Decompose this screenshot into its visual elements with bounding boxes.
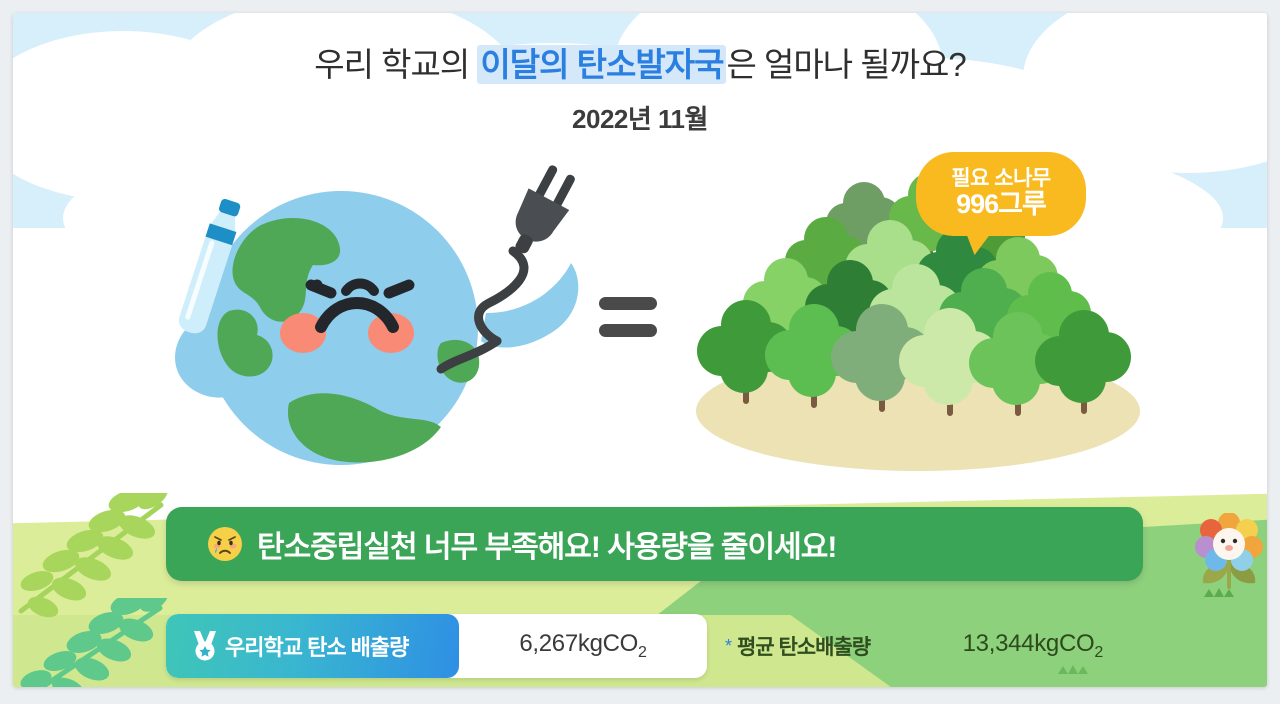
average-emission-subscript: 2 (1094, 644, 1103, 661)
school-emission-subscript: 2 (638, 644, 647, 661)
earth-right-arm (481, 263, 578, 348)
bubble-line-2: 996그루 (956, 190, 1046, 218)
school-emission-card: 우리학교 탄소 배출량 6,267kgCO2 (166, 614, 707, 678)
pine-tree-bubble: 필요 소나무 996그루 (916, 152, 1086, 236)
status-banner: 탄소중립실천 너무 부족해요! 사용량을 줄이세요! (166, 507, 1143, 581)
grass-tuft-icon (1057, 664, 1091, 675)
crying-face-emoji (207, 526, 243, 562)
school-emission-number: 6,267kgCO (519, 630, 638, 657)
medal-star-icon (191, 631, 219, 661)
flower-eye-left (1221, 539, 1225, 543)
page-title: 우리 학교의 이달의 탄소발자국은 얼마나 될까요? (13, 38, 1267, 86)
average-emission-row: * 평균 탄소배출량 13,344kgCO2 (725, 614, 1195, 678)
average-emission-number: 13,344kgCO (963, 630, 1095, 657)
school-emission-label-pill: 우리학교 탄소 배출량 (166, 614, 459, 678)
average-emission-label: 평균 탄소배출량 (737, 631, 870, 661)
fern-leaf-icon (13, 598, 188, 687)
flower-nose (1225, 545, 1233, 551)
page-subtitle: 2022년 11월 (13, 99, 1267, 136)
bubble-line-1: 필요 소나무 (951, 168, 1050, 190)
sad-earth-character (141, 163, 601, 493)
infographic-card: 우리 학교의 이달의 탄소발자국은 얼마나 될까요? 2022년 11월 (13, 13, 1267, 687)
school-emission-label: 우리학교 탄소 배출량 (225, 630, 408, 662)
flower-face (1213, 528, 1245, 560)
title-suffix: 은 얼마나 될까요? (726, 46, 965, 83)
smiling-flower-icon (1191, 513, 1267, 599)
screenshot-root: 우리 학교의 이달의 탄소발자국은 얼마나 될까요? 2022년 11월 (0, 0, 1280, 704)
school-emission-value: 6,267kgCO2 (459, 630, 707, 662)
flower-eye-right (1233, 539, 1237, 543)
title-prefix: 우리 학교의 (314, 46, 477, 83)
banner-message: 탄소중립실천 너무 부족해요! 사용량을 줄이세요! (257, 522, 836, 566)
asterisk-icon: * (725, 637, 732, 655)
equals-sign (599, 297, 657, 337)
average-emission-value: 13,344kgCO2 (963, 630, 1103, 662)
title-highlight: 이달의 탄소발자국 (477, 45, 726, 84)
